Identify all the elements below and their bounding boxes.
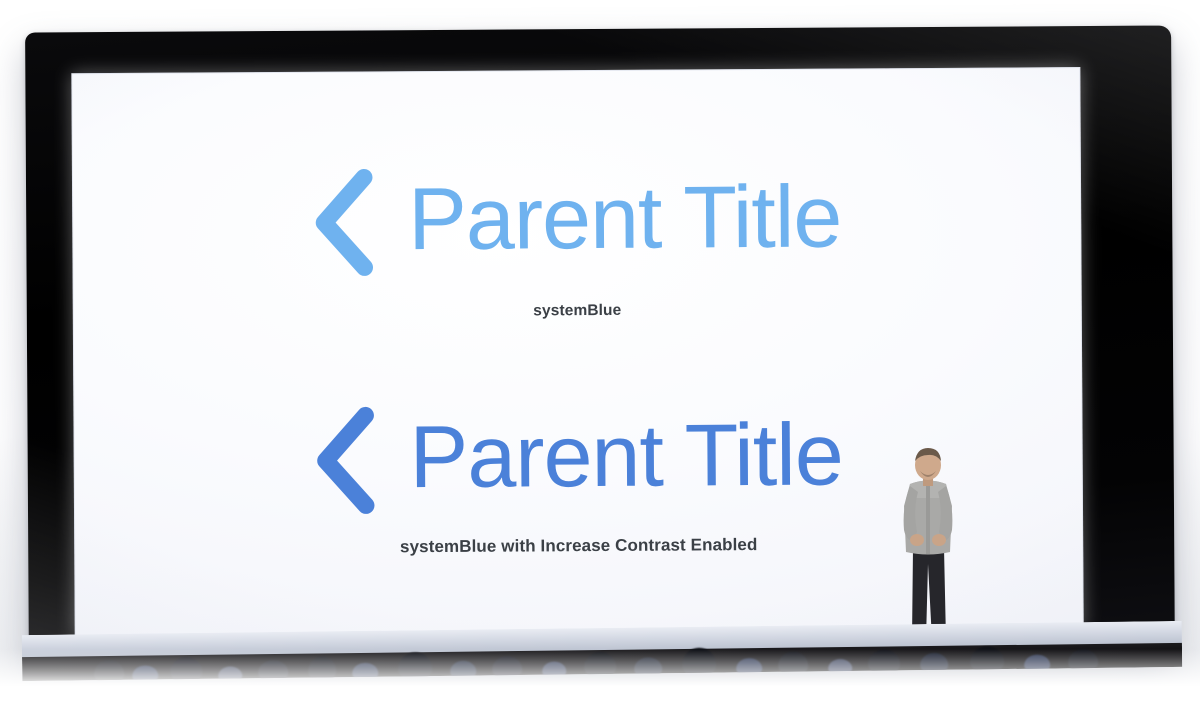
slide-row-system-blue: Parent Title systemBlue [72, 159, 1082, 323]
parent-title-contrast: Parent Title [409, 411, 843, 502]
chevron-left-icon [312, 167, 375, 277]
parent-title-default: Parent Title [408, 173, 842, 264]
caption-system-blue: systemBlue [73, 299, 1082, 323]
audience-head [94, 660, 124, 681]
screen-bezel: Parent Title systemBlue Parent Title sys… [25, 26, 1175, 666]
presenter-figure [880, 444, 976, 648]
audience-head [132, 665, 158, 681]
chevron-left-icon [313, 405, 376, 515]
keynote-stage-photo: Parent Title systemBlue Parent Title sys… [0, 0, 1200, 701]
nav-bar-sample-default: Parent Title [72, 159, 1082, 283]
audience-head [682, 648, 716, 677]
audience-head [170, 657, 202, 681]
